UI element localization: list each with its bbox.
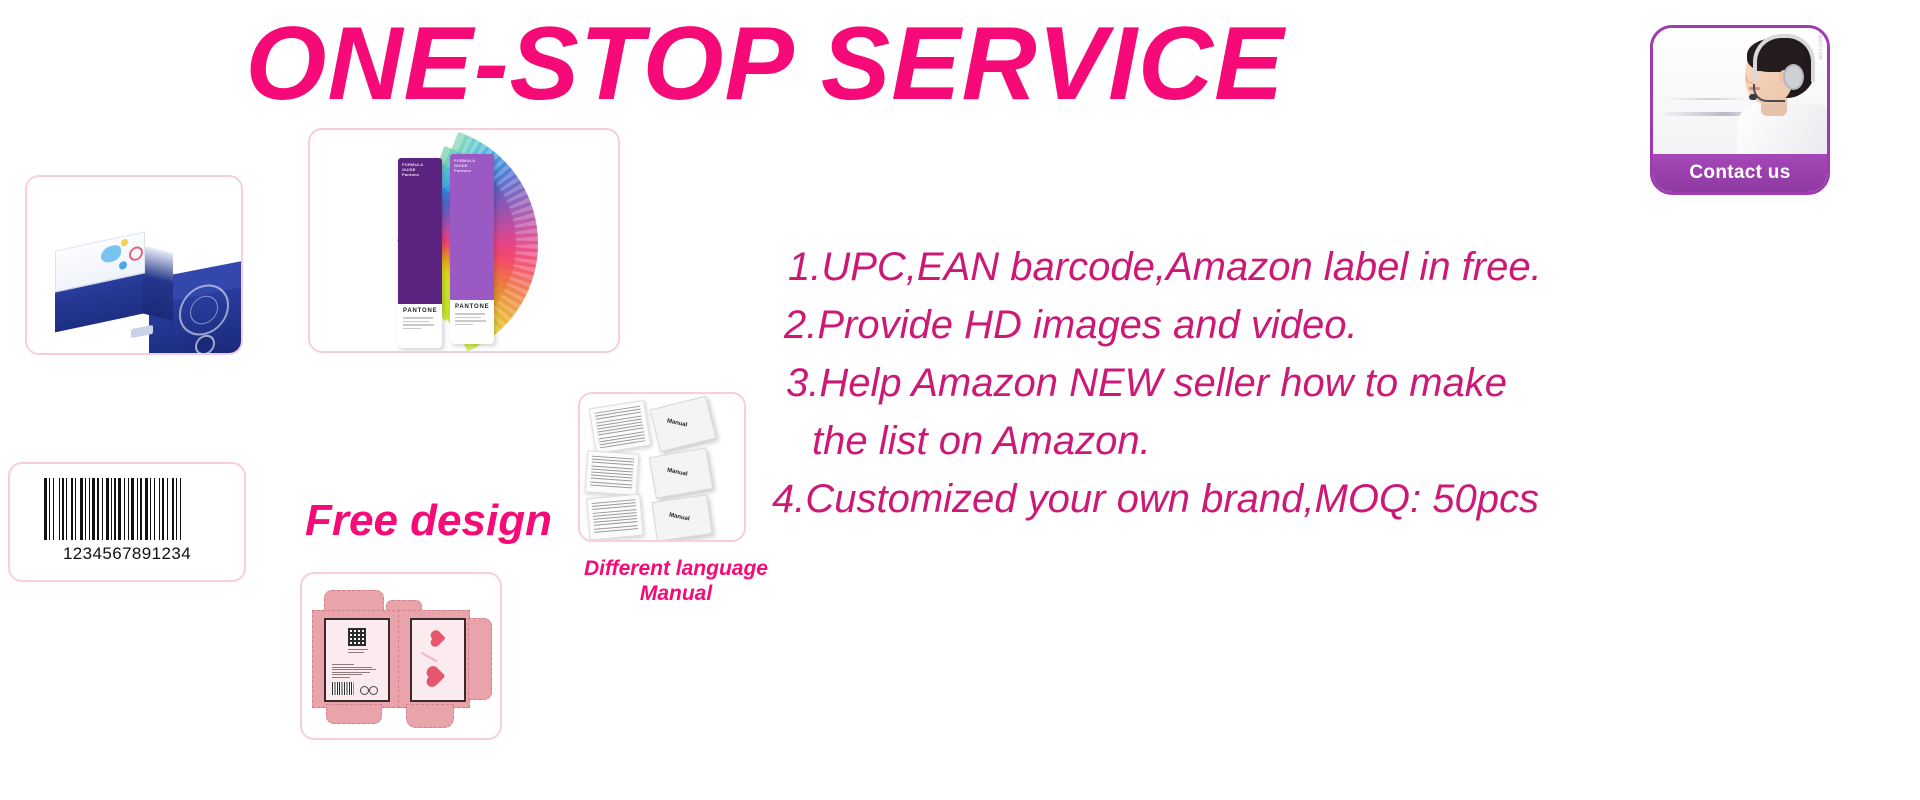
pantone-guide-card: FORMULA GUIDEPantone FORMULA GUIDE Solid… [308,128,620,353]
barcode-bar [140,478,142,540]
barcode-card: 1234567891234 [8,462,246,582]
guide-uncoated-footer: PANTONE [450,300,494,344]
qr-code-icon [348,628,366,646]
headset-earcup-icon [1783,64,1804,90]
art-stroke [421,652,438,663]
manual-sheet-2-lines [590,456,634,491]
contact-us-label: Contact us [1689,162,1790,184]
guide-coated-footer: PANTONE [398,304,442,348]
feature-item-4: 4.Customized your own brand,MOQ: 50pcs [772,470,1910,528]
feature-item-2: 2.Provide HD images and video. [784,296,1910,354]
manual-cover-1: Manual [650,396,717,453]
barcode-bar [114,478,116,540]
manual-sheet-3 [586,494,643,541]
contact-us-button[interactable]: Contact us [1653,154,1827,192]
gift-box-scene [27,177,241,353]
manual-sheet-3-lines [592,499,639,535]
barcode-bar [75,478,76,540]
barcode-bar [66,478,67,540]
barcode-bar [137,478,138,540]
pantone-guide-uncoated: FORMULA GUIDEPantone FORMULA GUIDE Solid… [450,154,494,344]
barcode-bar [124,478,125,540]
manual-cover-2: Manual [649,447,713,498]
barcode-bar [118,478,121,540]
box-blob-icon [101,244,121,264]
barcode-bar [150,478,151,540]
ce-mark-icon [369,686,378,695]
barcode-bar [71,478,73,540]
barcode-bar [97,478,99,540]
barcode-bar [176,478,177,540]
manual-sheet-1 [589,400,652,454]
manual-cover-3-label: Manual [668,512,689,522]
panel-text-lines [332,664,378,680]
barcode-bar [154,478,155,540]
gift-box-photo-card [25,175,243,355]
photo-watermark: www.pecl.com [1817,28,1823,60]
qr-caption-lines [348,649,370,654]
manual-cover-1-label: Manual [666,418,687,428]
barcode-bar [89,478,90,540]
guide-coated-header: FORMULA GUIDEPantone [398,158,442,186]
dieline-glue-tab [468,618,492,700]
barcode-bar [59,478,60,540]
free-design-label: Free design [305,496,552,546]
manual-sheet-2 [585,450,640,496]
promo-banner: ONE-STOP SERVICE www.pecl.com Contact us [0,0,1920,800]
dieline-art-panel [410,618,466,702]
customer-service-photo: www.pecl.com [1653,28,1827,156]
photo-streak-secondary [1663,98,1747,100]
heart-icon [432,632,445,645]
barcode-bar [106,478,109,540]
guide-coated-brand: PANTONE [398,304,442,314]
barcode-bar [111,478,112,540]
barcode-bar [128,478,129,540]
feature-item-3: 3.Help Amazon NEW seller how to make [786,354,1910,412]
barcode-number: 1234567891234 [10,544,244,564]
dieline-scene [302,574,500,738]
barcode-bar [159,478,160,540]
dieline-print-panel [324,618,390,702]
feature-item-3-continued: the list on Amazon. [812,412,1910,470]
barcode-bar [44,478,47,540]
barcode-bar [92,478,95,540]
barcode-bar [80,478,83,540]
manual-cover-2-label: Manual [666,468,687,478]
guide-uncoated-textlines [450,310,494,325]
guide-uncoated-header: FORMULA GUIDEPantone [450,154,494,182]
dieline-flap-bottom-right [406,704,454,728]
feature-list: 1.UPC,EAN barcode,Amazon label in free. … [770,238,1910,528]
pantone-guide-coated: FORMULA GUIDEPantone FORMULA GUIDE Solid… [398,158,442,348]
manual-cover-3: Manual [651,494,712,541]
barcode-bar [131,478,134,540]
manual-caption-line1: Different language [573,556,779,581]
manual-photo-card: Manual Manual Manual [578,392,746,542]
manual-sheet-1-lines [594,406,645,449]
barcode-bar [167,478,168,540]
manual-caption: Different language Manual [573,556,779,606]
panel-barcode-icon [332,682,354,695]
barcode-bar [85,478,86,540]
agent-nose [1746,76,1753,83]
barcode-bar [102,478,103,540]
guide-coated-textlines [398,314,442,329]
barcode-bar [62,478,64,540]
box-lid-side [141,245,173,321]
barcode-bar [49,478,50,540]
headset-mic-icon [1753,84,1785,102]
guide-uncoated-brand: PANTONE [450,300,494,310]
page-title: ONE-STOP SERVICE [0,10,1530,119]
box-dot-yellow-icon [121,238,128,246]
heart-icon-large [429,668,446,685]
barcode-graphic [44,478,185,540]
headset-mic-tip-icon [1749,94,1757,100]
contact-us-widget[interactable]: www.pecl.com Contact us [1650,25,1830,195]
pantone-scene: FORMULA GUIDEPantone FORMULA GUIDE Solid… [310,130,618,351]
barcode-bar [145,478,148,540]
feature-item-1: 1.UPC,EAN barcode,Amazon label in free. [788,238,1910,296]
recycle-icon [360,686,369,695]
barcode-bar [180,478,181,540]
barcode-bar [162,478,164,540]
barcode-bar [53,478,54,540]
dieline-flap-top [324,590,384,612]
manual-caption-line2: Manual [573,581,779,606]
dieline-flap-bottom [326,704,382,724]
dieline-design-card [300,572,502,740]
barcode-bar [172,478,174,540]
